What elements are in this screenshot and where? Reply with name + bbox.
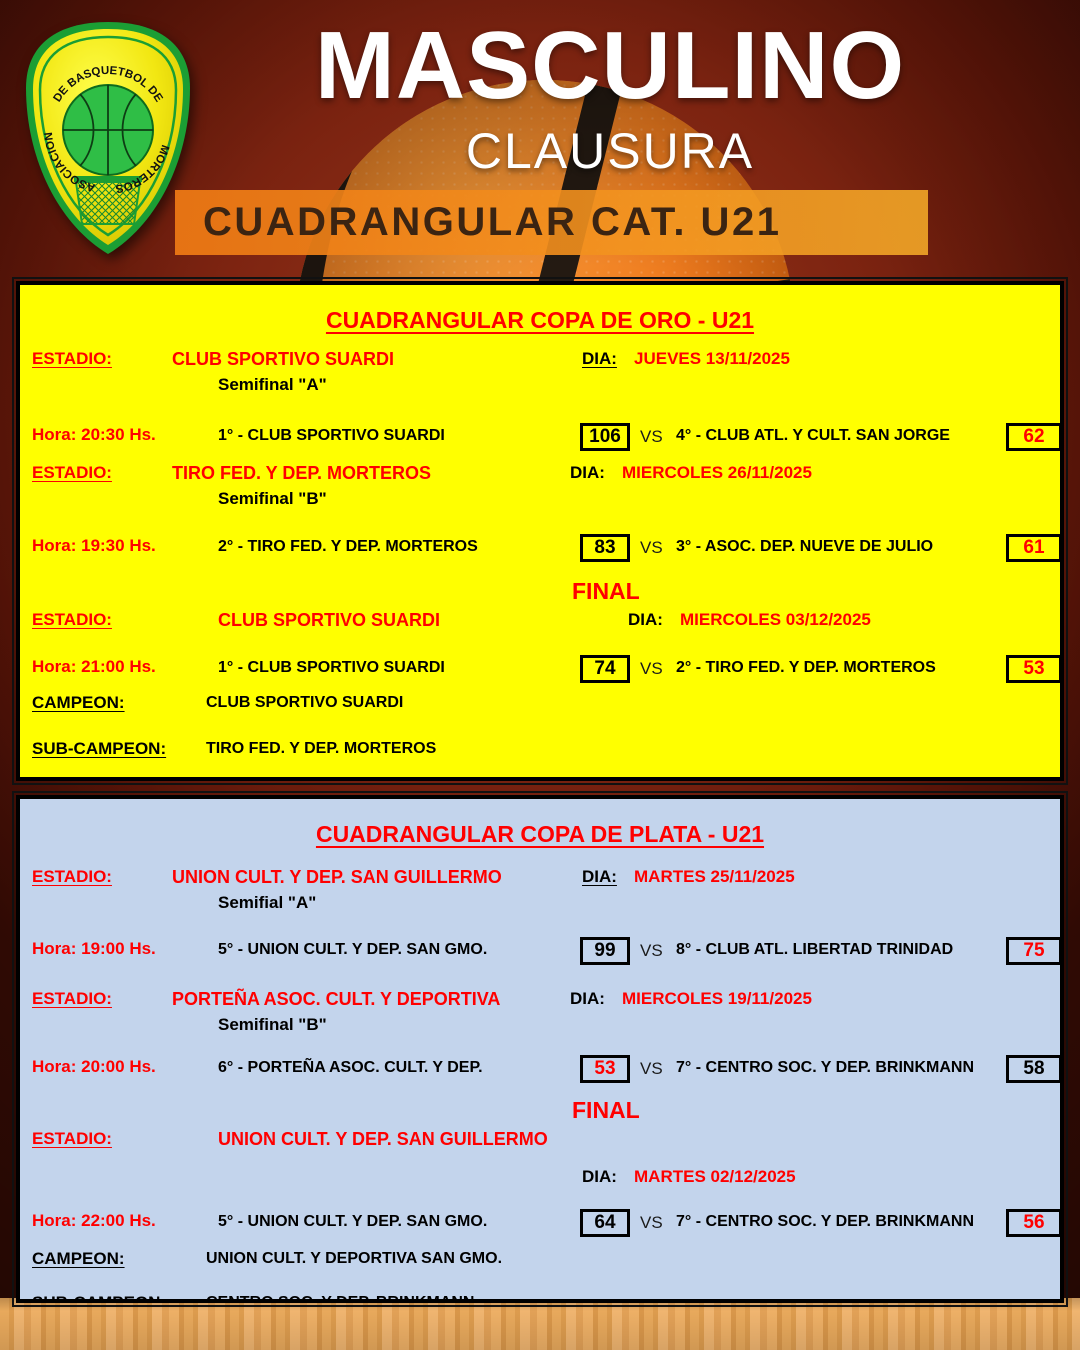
table-row: ESTADIO: CLUB SPORTIVO SUARDI DIA: MIERC… <box>20 610 1060 636</box>
date-value: MARTES 02/12/2025 <box>634 1167 796 1187</box>
dia-label: DIA: <box>570 463 605 483</box>
time-value: Hora: 20:00 Hs. <box>32 1057 156 1077</box>
date-value: MIERCOLES 19/11/2025 <box>622 989 812 1009</box>
venue-value: TIRO FED. Y DEP. MORTEROS <box>172 463 431 484</box>
round-label: Semifinal "A" <box>218 375 327 395</box>
table-row: ESTADIO: UNION CULT. Y DEP. SAN GUILLERM… <box>20 867 1060 893</box>
table-row: Hora: 20:00 Hs. 6° - PORTEÑA ASOC. CULT.… <box>20 1057 1060 1083</box>
home-team: 1° - CLUB SPORTIVO SUARDI <box>218 427 445 445</box>
dia-label: DIA: <box>582 867 617 887</box>
table-row: Semifinal "A" <box>20 375 1060 401</box>
champion-value: CLUB SPORTIVO SUARDI <box>206 694 403 712</box>
wood-floor-texture <box>0 1298 1080 1350</box>
page-title: MASCULINO <box>215 16 1005 116</box>
table-row: Hora: 22:00 Hs. 5° - UNION CULT. Y DEP. … <box>20 1211 1060 1237</box>
champion-row: CAMPEON: CLUB SPORTIVO SUARDI <box>20 693 1060 719</box>
final-heading-row: FINAL <box>20 578 1060 604</box>
table-row: Hora: 20:30 Hs. 1° - CLUB SPORTIVO SUARD… <box>20 425 1060 451</box>
away-team: 7° - CENTRO SOC. Y DEP. BRINKMANN <box>676 1059 974 1077</box>
time-value: Hora: 22:00 Hs. <box>32 1211 156 1231</box>
runner-up-value: CENTRO SOC. Y DEP. BRINKMANN <box>206 1294 474 1303</box>
dia-label: DIA: <box>570 989 605 1009</box>
copa-de-oro-title: CUADRANGULAR COPA DE ORO - U21 <box>20 307 1060 334</box>
vs-label: VS <box>640 941 663 961</box>
table-row: Semifinal "B" <box>20 489 1060 515</box>
champion-row: CAMPEON: UNION CULT. Y DEPORTIVA SAN GMO… <box>20 1249 1060 1275</box>
away-team: 3° - ASOC. DEP. NUEVE DE JULIO <box>676 538 933 556</box>
final-date-row: DIA: MARTES 02/12/2025 <box>20 1167 1060 1193</box>
vs-label: VS <box>640 538 663 558</box>
home-team: 1° - CLUB SPORTIVO SUARDI <box>218 659 445 677</box>
away-team: 7° - CENTRO SOC. Y DEP. BRINKMANN <box>676 1213 974 1231</box>
dia-label: DIA: <box>582 1167 617 1187</box>
table-row: ESTADIO: TIRO FED. Y DEP. MORTEROS DIA: … <box>20 463 1060 489</box>
final-label: FINAL <box>572 1097 640 1124</box>
category-banner: CUADRANGULAR CAT. U21 <box>175 190 928 255</box>
table-row: Semifinal "B" <box>20 1015 1060 1041</box>
time-value: Hora: 19:00 Hs. <box>32 939 156 959</box>
vs-label: VS <box>640 427 663 447</box>
home-score: 99 <box>580 937 630 965</box>
away-score: 61 <box>1006 534 1062 562</box>
dia-label: DIA: <box>628 610 663 630</box>
away-score: 62 <box>1006 423 1062 451</box>
final-heading-row: FINAL <box>20 1097 1060 1123</box>
venue-value: CLUB SPORTIVO SUARDI <box>218 610 440 631</box>
round-label: Semifinal "B" <box>218 489 327 509</box>
home-score: 83 <box>580 534 630 562</box>
estadio-label: ESTADIO: <box>32 610 112 630</box>
home-score: 53 <box>580 1055 630 1083</box>
header: DE BASQUETBOL DE MORTEROS ASOCIACION MAS… <box>0 0 1080 275</box>
copa-de-plata-title: CUADRANGULAR COPA DE PLATA - U21 <box>20 821 1060 848</box>
date-value: JUEVES 13/11/2025 <box>634 349 790 369</box>
runner-up-row: SUB-CAMPEON: TIRO FED. Y DEP. MORTEROS <box>20 739 1060 765</box>
table-row: Hora: 19:30 Hs. 2° - TIRO FED. Y DEP. MO… <box>20 536 1060 562</box>
away-team: 4° - CLUB ATL. Y CULT. SAN JORGE <box>676 427 950 445</box>
table-row: ESTADIO: UNION CULT. Y DEP. SAN GUILLERM… <box>20 1129 1060 1155</box>
date-value: MIERCOLES 03/12/2025 <box>680 610 871 630</box>
time-value: Hora: 20:30 Hs. <box>32 425 156 445</box>
time-value: Hora: 21:00 Hs. <box>32 657 156 677</box>
copa-de-oro-panel: CUADRANGULAR COPA DE ORO - U21 ESTADIO: … <box>16 281 1064 781</box>
vs-label: VS <box>640 659 663 679</box>
runner-up-row: SUB-CAMPEON: CENTRO SOC. Y DEP. BRINKMAN… <box>20 1293 1060 1303</box>
venue-value: PORTEÑA ASOC. CULT. Y DEPORTIVA <box>172 989 500 1010</box>
category-banner-label: CUADRANGULAR CAT. U21 <box>175 200 781 245</box>
away-team: 8° - CLUB ATL. LIBERTAD TRINIDAD <box>676 941 953 959</box>
venue-value: UNION CULT. Y DEP. SAN GUILLERMO <box>172 867 502 888</box>
association-logo: DE BASQUETBOL DE MORTEROS ASOCIACION <box>18 18 198 258</box>
estadio-label: ESTADIO: <box>32 867 112 887</box>
round-label: Semifinal "B" <box>218 1015 327 1035</box>
table-row: Hora: 19:00 Hs. 5° - UNION CULT. Y DEP. … <box>20 939 1060 965</box>
table-row: ESTADIO: PORTEÑA ASOC. CULT. Y DEPORTIVA… <box>20 989 1060 1015</box>
home-team: 6° - PORTEÑA ASOC. CULT. Y DEP. <box>218 1059 483 1077</box>
venue-value: CLUB SPORTIVO SUARDI <box>172 349 394 370</box>
estadio-label: ESTADIO: <box>32 349 112 369</box>
home-score: 64 <box>580 1209 630 1237</box>
home-team: 5° - UNION CULT. Y DEP. SAN GMO. <box>218 941 487 959</box>
venue-value: UNION CULT. Y DEP. SAN GUILLERMO <box>218 1129 548 1150</box>
runner-up-value: TIRO FED. Y DEP. MORTEROS <box>206 740 436 758</box>
table-row: Hora: 21:00 Hs. 1° - CLUB SPORTIVO SUARD… <box>20 657 1060 683</box>
home-team: 2° - TIRO FED. Y DEP. MORTEROS <box>218 538 478 556</box>
champion-value: UNION CULT. Y DEPORTIVA SAN GMO. <box>206 1250 502 1268</box>
estadio-label: ESTADIO: <box>32 463 112 483</box>
vs-label: VS <box>640 1059 663 1079</box>
home-score: 74 <box>580 655 630 683</box>
away-score: 56 <box>1006 1209 1062 1237</box>
final-label: FINAL <box>572 578 640 605</box>
away-team: 2° - TIRO FED. Y DEP. MORTEROS <box>676 659 936 677</box>
estadio-label: ESTADIO: <box>32 989 112 1009</box>
campeon-label: CAMPEON: <box>32 1249 125 1269</box>
away-score: 58 <box>1006 1055 1062 1083</box>
time-value: Hora: 19:30 Hs. <box>32 536 156 556</box>
copa-de-plata-panel: CUADRANGULAR COPA DE PLATA - U21 ESTADIO… <box>16 795 1064 1303</box>
estadio-label: ESTADIO: <box>32 1129 112 1149</box>
home-team: 5° - UNION CULT. Y DEP. SAN GMO. <box>218 1213 487 1231</box>
page-subtitle: CLAUSURA <box>215 122 1005 180</box>
campeon-label: CAMPEON: <box>32 693 125 713</box>
dia-label: DIA: <box>582 349 617 369</box>
date-value: MARTES 25/11/2025 <box>634 867 795 887</box>
date-value: MIERCOLES 26/11/2025 <box>622 463 812 483</box>
subcampeon-label: SUB-CAMPEON: <box>32 1293 166 1303</box>
table-row: Semifial "A" <box>20 893 1060 919</box>
away-score: 53 <box>1006 655 1062 683</box>
home-score: 106 <box>580 423 630 451</box>
subcampeon-label: SUB-CAMPEON: <box>32 739 166 759</box>
table-row: ESTADIO: CLUB SPORTIVO SUARDI DIA: JUEVE… <box>20 349 1060 375</box>
away-score: 75 <box>1006 937 1062 965</box>
round-label: Semifial "A" <box>218 893 316 913</box>
vs-label: VS <box>640 1213 663 1233</box>
